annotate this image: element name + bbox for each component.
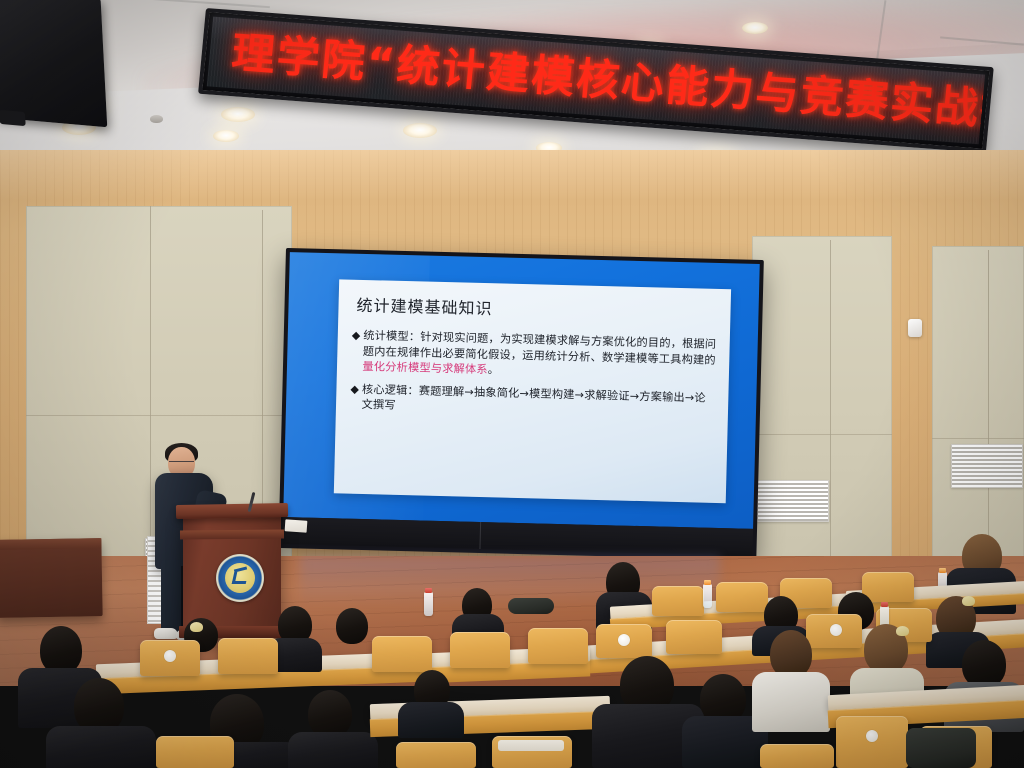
seat-number-sticker xyxy=(618,634,630,646)
bullet-1-tail: 。 xyxy=(488,363,500,376)
hair-clip xyxy=(962,596,975,606)
slide-content-card: 统计建模基础知识 ◆ 统计模型：针对现实问题，为实现建模求解与方案优化的目的，根… xyxy=(334,279,731,503)
audience-head xyxy=(40,626,82,674)
lecture-seat[interactable] xyxy=(666,620,722,654)
ceiling-speaker-unit xyxy=(0,0,107,127)
podium-shelf xyxy=(180,530,284,540)
panel-seam xyxy=(830,240,831,604)
emblem-glyph xyxy=(232,572,249,584)
bullet-diamond-icon: ◆ xyxy=(352,328,361,343)
ceiling-downlight xyxy=(742,22,768,34)
water-bottle xyxy=(703,584,712,608)
panel-seam xyxy=(752,434,892,435)
audience-head xyxy=(308,690,352,738)
lecture-seat[interactable] xyxy=(140,640,200,676)
audience-torso xyxy=(288,732,378,768)
slide-bullet-2-text: 核心逻辑：赛题理解→抽象简化→模型构建→求解验证→方案输出→论文撰写 xyxy=(361,381,716,421)
lecture-seat[interactable] xyxy=(806,614,862,648)
lecture-seat[interactable] xyxy=(596,624,652,658)
bottle-cap xyxy=(939,568,946,573)
paper-sheet xyxy=(285,519,308,533)
university-emblem xyxy=(216,554,264,602)
seat-cushion xyxy=(498,740,564,751)
bullet-1-highlight: 量化分析模型与求解体系 xyxy=(362,360,488,376)
slide-bullet-1: ◆ 统计模型：针对现实问题，为实现建模求解与方案优化的目的，根据问题内在规律作出… xyxy=(351,328,718,384)
audience-head xyxy=(770,630,812,678)
lecture-seat[interactable] xyxy=(760,744,834,768)
wall-sensor xyxy=(908,319,922,337)
smoke-detector-icon xyxy=(150,115,163,123)
seat-number-sticker xyxy=(830,624,842,636)
emblem-inner-disc xyxy=(225,563,255,593)
audience-head xyxy=(336,608,368,644)
bottle-cap xyxy=(704,580,711,585)
wall-top-highlight xyxy=(0,150,1024,200)
hair-clip xyxy=(190,622,203,632)
lecture-seat[interactable] xyxy=(716,582,768,612)
bottle-cap xyxy=(425,588,432,593)
lecture-seat[interactable] xyxy=(396,742,476,768)
podium-top-surface xyxy=(176,503,288,519)
lecture-seat[interactable] xyxy=(372,636,432,672)
seat-number-sticker xyxy=(164,650,176,662)
lecture-seat[interactable] xyxy=(156,736,234,768)
lecture-seat[interactable] xyxy=(528,628,588,664)
presentation-screen-background: 统计建模基础知识 ◆ 统计模型：针对现实问题，为实现建模求解与方案优化的目的，根… xyxy=(283,252,760,529)
backpack xyxy=(906,728,976,768)
presentation-screen[interactable]: 统计建模基础知识 ◆ 统计模型：针对现实问题，为实现建模求解与方案优化的目的，根… xyxy=(278,248,763,560)
slide-bullet-1-text: 统计模型：针对现实问题，为实现建模求解与方案优化的目的，根据问题内在规律作出必要… xyxy=(362,328,718,383)
lecture-seat[interactable] xyxy=(652,586,704,616)
bullet-2-label: 核心逻辑： xyxy=(362,382,419,396)
hvac-vent-grille xyxy=(951,444,1023,488)
acoustic-wall-panel xyxy=(752,236,892,606)
hair-clip xyxy=(896,626,909,636)
panel-seam xyxy=(932,438,1024,439)
side-table xyxy=(0,538,103,618)
water-bottle xyxy=(424,592,433,616)
lecture-seat[interactable] xyxy=(862,572,914,602)
lecture-seat[interactable] xyxy=(218,638,278,674)
bag-on-desk xyxy=(508,598,554,614)
audience-torso xyxy=(398,702,464,738)
seat-number-sticker xyxy=(866,730,878,742)
lecture-seat[interactable] xyxy=(450,632,510,668)
slide-title: 统计建模基础知识 xyxy=(356,292,718,325)
panel-seam xyxy=(26,415,292,416)
bullet-diamond-icon: ◆ xyxy=(350,381,359,396)
audience-head xyxy=(962,640,1006,688)
lecture-hall-photo: 理学院“统计建模核心能力与竞赛实战提升”主题讲座 统计建模基础知识 ◆ 统计模型… xyxy=(0,0,1024,768)
hvac-vent-grille xyxy=(757,480,829,522)
speaker-shoe xyxy=(154,628,178,639)
bottle-cap xyxy=(881,602,888,607)
glasses-icon xyxy=(169,461,194,466)
lecture-seat[interactable] xyxy=(492,736,572,768)
slide-bullet-2: ◆ 核心逻辑：赛题理解→抽象简化→模型构建→求解验证→方案输出→论文撰写 xyxy=(350,381,717,421)
bullet-1-label: 统计模型： xyxy=(363,329,420,343)
lecture-seat[interactable] xyxy=(836,716,908,768)
audience-torso xyxy=(46,726,156,768)
audience-torso xyxy=(752,672,830,732)
